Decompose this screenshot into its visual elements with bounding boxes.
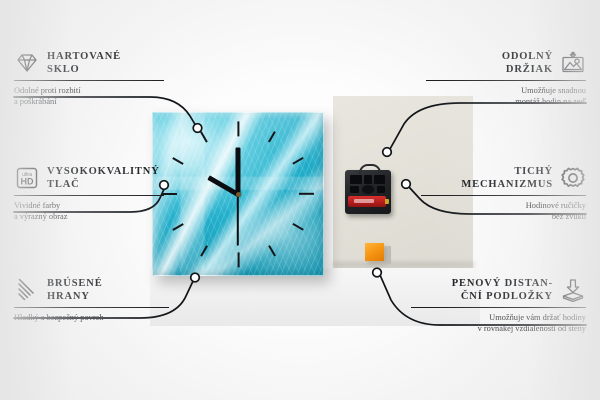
foam-spacer-pad (365, 243, 384, 261)
feature-title: VYSOKOKVALITNÝ TLAČ (47, 165, 160, 191)
feature-hardened-glass[interactable]: HARTOVANÉ SKLO Odolné proti rozbití a po… (14, 50, 164, 107)
infographic-canvas: HARTOVANÉ SKLO Odolné proti rozbití a po… (0, 0, 600, 400)
feature-divider (426, 80, 586, 81)
ultra-hd-icon: ultra HD (14, 166, 40, 190)
feature-title: BRÚSENÉ HRANY (47, 277, 103, 303)
picture-hanger-icon (560, 51, 586, 75)
feature-high-quality-print[interactable]: ultra HD VYSOKOKVALITNÝ TLAČ Vividné far… (14, 165, 164, 222)
feature-description: Odolné proti rozbití a poškrábání (14, 85, 164, 107)
feature-divider (421, 195, 586, 196)
feature-description: Umožňuje snadnou montáž hodin na zeď (426, 85, 586, 107)
feature-description: Vividné farby a výrazný obraz (14, 200, 164, 222)
feature-header: BRÚSENÉ HRANY (14, 277, 169, 303)
feature-description: Umožňuje vám držať hodiny v rovnakej vzd… (411, 312, 586, 334)
feature-header: ODOLNÝ DRŽIAK (426, 50, 586, 76)
feature-divider (411, 307, 586, 308)
feature-divider (14, 195, 164, 196)
movement-vent (364, 175, 372, 184)
clock-glass-edge (152, 112, 324, 276)
battery-label (354, 199, 374, 203)
aa-battery (348, 196, 386, 207)
feature-divider (14, 80, 164, 81)
feature-description: Hodinové ručičky bez zvuku (421, 200, 586, 222)
svg-text:HD: HD (21, 177, 34, 187)
feature-foam-spacers[interactable]: PENOVÝ DISTAN- ČNÍ PODLOŽKY Umožňuje vám… (411, 277, 586, 334)
feature-header: ultra HD VYSOKOKVALITNÝ TLAČ (14, 165, 164, 191)
feature-header: TICHÝ MECHANIZMUS (421, 165, 586, 191)
feature-durable-holder[interactable]: ODOLNÝ DRŽIAK Umožňuje snadnou montáž ho… (426, 50, 586, 107)
movement-shaft (362, 185, 374, 194)
movement-vent (374, 175, 385, 184)
foam-pad-icon (560, 278, 586, 302)
feature-title: HARTOVANÉ SKLO (47, 50, 121, 76)
battery-terminal (385, 199, 389, 204)
feature-description: Hladký a bezpečný povrch (14, 312, 169, 323)
foam-spacer-side (384, 246, 391, 264)
feature-divider (14, 307, 169, 308)
wall-clock (152, 112, 324, 276)
feature-title: TICHÝ MECHANIZMUS (461, 165, 553, 191)
movement-vent (350, 186, 359, 193)
feature-silent-mechanism[interactable]: TICHÝ MECHANIZMUS Hodinové ručičky bez z… (421, 165, 586, 222)
feature-header: HARTOVANÉ SKLO (14, 50, 164, 76)
movement-vent (350, 175, 362, 184)
diamond-icon (14, 51, 40, 75)
feature-polished-edges[interactable]: BRÚSENÉ HRANY Hladký a bezpečný povrch (14, 277, 169, 323)
feature-title: ODOLNÝ DRŽIAK (502, 50, 553, 76)
gear-icon (560, 166, 586, 190)
movement-vent (377, 186, 385, 193)
feature-header: PENOVÝ DISTAN- ČNÍ PODLOŽKY (411, 277, 586, 303)
polished-edges-icon (14, 278, 40, 302)
clock-movement (345, 170, 391, 214)
feature-title: PENOVÝ DISTAN- ČNÍ PODLOŽKY (452, 277, 553, 303)
